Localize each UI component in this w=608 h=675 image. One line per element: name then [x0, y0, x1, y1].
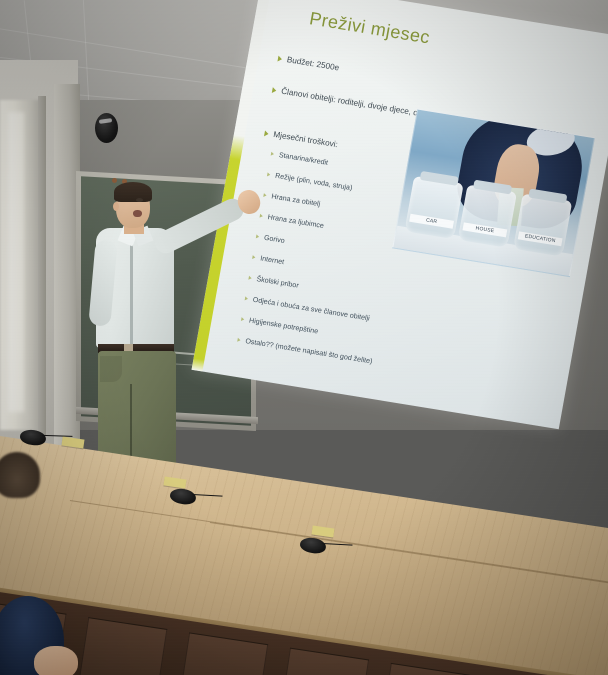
slide-bullet-l2-text: Hrana za ljubimce — [267, 213, 324, 230]
slide-bullet-l2-text: Ostalo?? (možete napisati što god želite… — [245, 337, 373, 365]
slide-bullet-l1-text: Budžet: 2500e — [286, 55, 340, 72]
projection-screen: Preživi mjesec Budžet: 2500e Članovi obi… — [188, 0, 608, 451]
desk-panel — [277, 648, 369, 675]
jar-label: HOUSE — [462, 222, 507, 237]
slide-bullet-l2: Hrana za obitelj — [263, 191, 321, 208]
slide-bullet-l2-text: Hrana za obitelj — [271, 192, 321, 208]
trouser-pocket — [100, 356, 122, 382]
slide-bullet-l2-text: Higijenske potrepštine — [248, 316, 318, 335]
desk-panel — [176, 632, 268, 675]
desk-panel — [75, 617, 167, 675]
jar-lid — [420, 171, 459, 186]
bullet-arrow-icon — [264, 130, 269, 137]
bullet-arrow-icon — [245, 297, 249, 301]
slide-bullet-l2-text: Gorivo — [263, 234, 285, 245]
bullet-arrow-icon — [252, 255, 256, 259]
bullet-arrow-icon — [248, 276, 252, 280]
bullet-arrow-icon — [277, 55, 282, 62]
presenter-hair — [114, 182, 152, 202]
audience-head-partial — [0, 452, 40, 498]
wall-clock-icon — [95, 113, 118, 143]
window-frame — [38, 96, 46, 436]
savings-jar: HOUSE — [458, 185, 517, 248]
bullet-arrow-icon — [241, 317, 245, 321]
bullet-arrow-icon — [259, 214, 263, 218]
presentation-slide: Preživi mjesec Budžet: 2500e Članovi obi… — [192, 0, 608, 429]
slide-bullet-l2: Higijenske potrepštine — [241, 315, 319, 335]
slide-bullet-l2: Školski pribor — [248, 274, 299, 290]
slide-bullet-l2-text: Internet — [260, 254, 285, 266]
board-clip — [112, 178, 117, 183]
bullet-arrow-icon — [267, 173, 271, 177]
shirt-placket — [130, 232, 133, 344]
bullet-arrow-icon — [272, 87, 277, 94]
desk-panel — [378, 663, 470, 675]
savings-jar: EDUCATION — [513, 193, 572, 256]
slide-bullet-l2-text: Stanarina/kredit — [278, 151, 328, 167]
presenter-right-arm — [151, 195, 247, 257]
classroom-photo-scene: Preživi mjesec Budžet: 2500e Članovi obi… — [0, 0, 608, 675]
bullet-arrow-icon — [263, 193, 267, 197]
slide-bullet-l2: Hrana za ljubimce — [259, 212, 324, 230]
slide-bullet-l2-text: Režije (plin, voda, struja) — [274, 172, 352, 192]
presenter-ear — [113, 202, 119, 211]
slide-bullet-l2: Režije (plin, voda, struja) — [267, 170, 353, 192]
audience-hand — [34, 646, 78, 675]
window-light — [8, 112, 24, 412]
jar-label: EDUCATION — [518, 231, 563, 246]
slide-bullet-l1: Budžet: 2500e — [277, 54, 340, 73]
slide-bullet-l2-text: Školski pribor — [256, 275, 299, 290]
presenter-eye — [136, 198, 143, 202]
slide-bullet-l2: Internet — [252, 253, 285, 266]
slide-bullet-l1-text: Mjesečni troškovi: — [273, 130, 339, 149]
slide-bullet-l2: Gorivo — [255, 232, 285, 244]
slide-bullet-l1: Mjesečni troškovi: — [264, 128, 339, 149]
presenter-mouth — [133, 210, 142, 217]
slide-image-savings-jars: CAR HOUSE EDUCATION — [392, 109, 595, 278]
slide-title: Preživi mjesec — [308, 8, 432, 48]
bullet-arrow-icon — [271, 152, 275, 156]
desk-row — [0, 430, 608, 675]
bullet-arrow-icon — [256, 235, 260, 239]
slide-bullet-l2: Ostalo?? (možete napisati što god želite… — [237, 336, 373, 366]
savings-jar: CAR — [404, 176, 463, 239]
slide-bullet-l2-text: Odjeća i obuća za sve članove obitelji — [252, 296, 370, 323]
slide-bullet-l2: Stanarina/kredit — [270, 150, 328, 167]
jar-label: CAR — [409, 214, 454, 229]
bullet-arrow-icon — [237, 338, 241, 342]
